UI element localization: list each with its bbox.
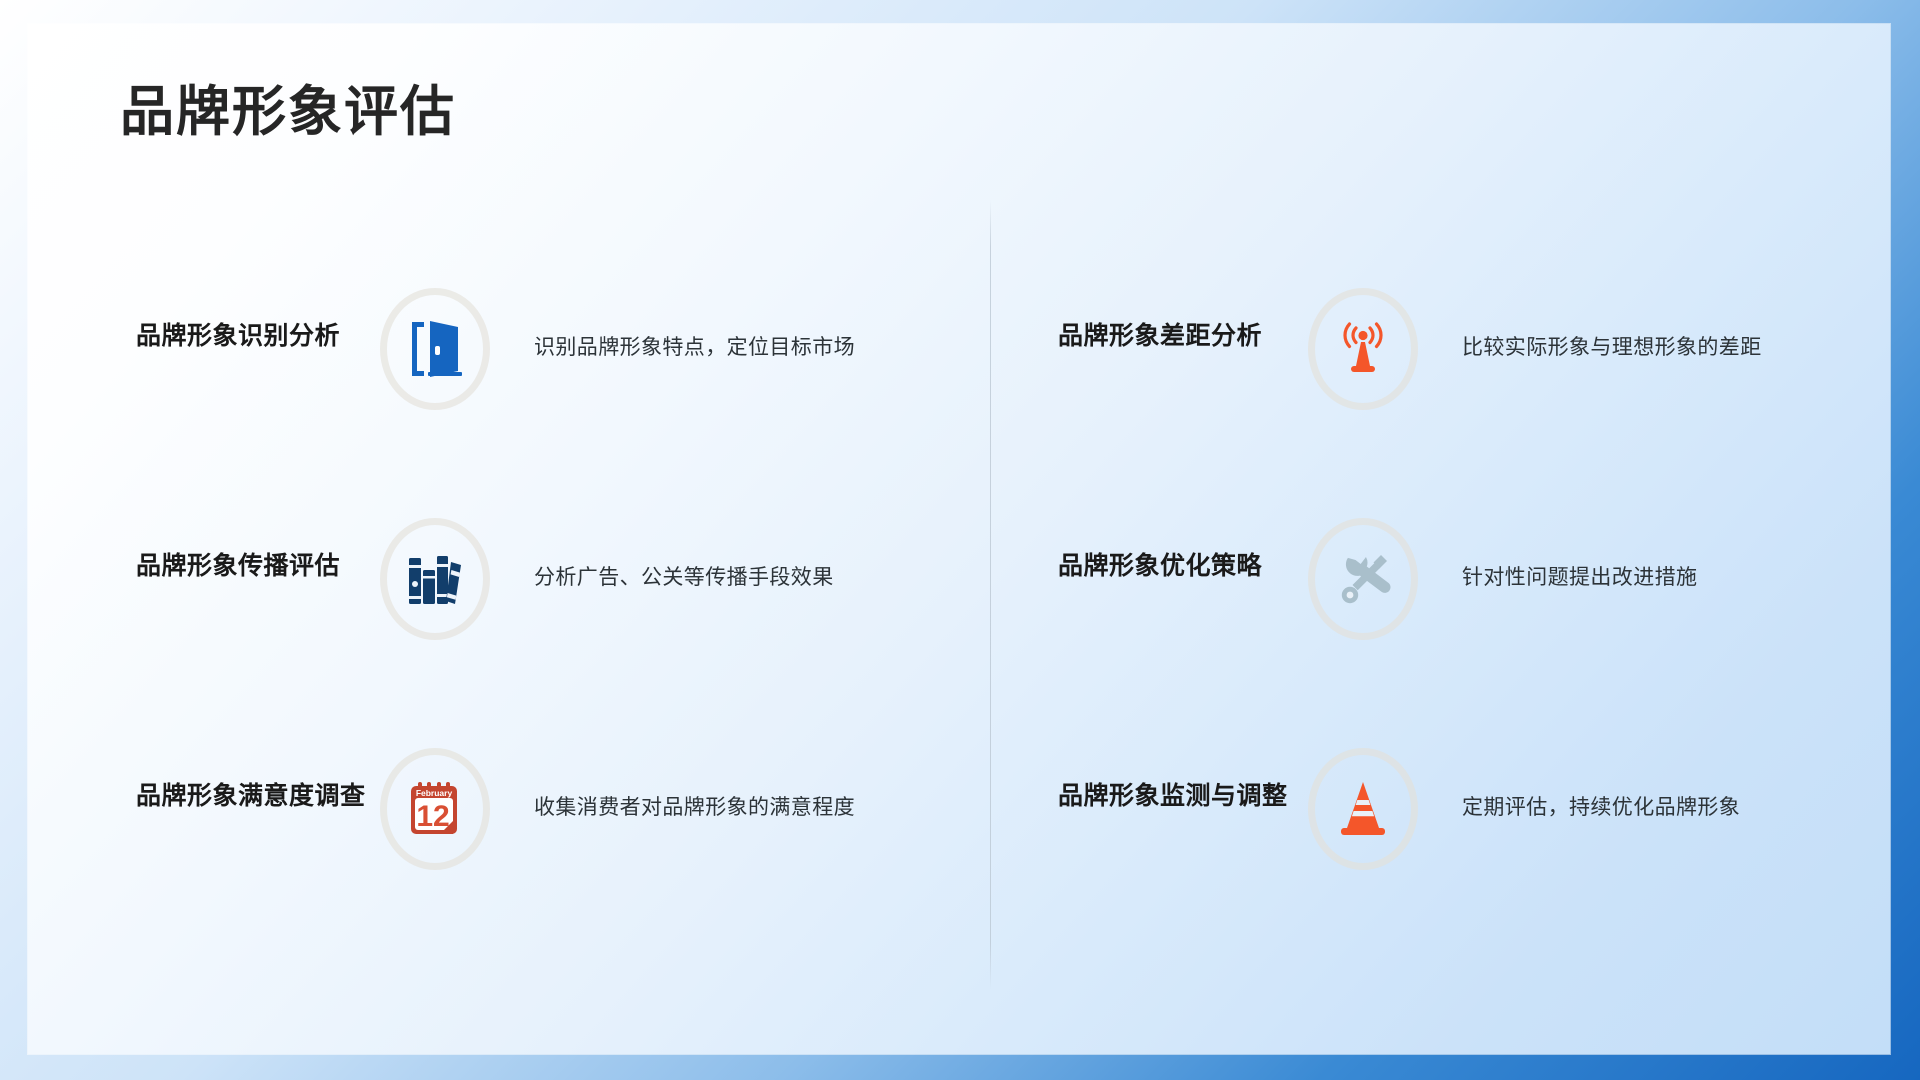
broadcast-tower-icon (1334, 320, 1392, 378)
item-title: 品牌形象满意度调查 (136, 780, 368, 812)
page-title: 品牌形象评估 (120, 83, 456, 142)
item-title: 品牌形象监测与调整 (1058, 780, 1298, 812)
item-description: 识别品牌形象特点，定位目标市场 (534, 332, 855, 364)
item-description: 定期评估，持续优化品牌形象 (1462, 792, 1740, 824)
item-title: 品牌形象差距分析 (1058, 320, 1298, 352)
item-description: 针对性问题提出改进措施 (1462, 562, 1697, 594)
right-column: 品牌形象差距分析 (1058, 274, 1878, 964)
item-description: 收集消费者对品牌形象的满意程度 (534, 792, 855, 824)
list-item[interactable]: 品牌形象满意度调查 (136, 734, 956, 964)
icon-ring (1308, 288, 1418, 410)
calendar-month-label: February (416, 788, 453, 798)
left-column: 品牌形象识别分析 识别品牌形象特点，定位目标市场 (136, 274, 956, 964)
icon-ring: February 12 (380, 748, 490, 870)
slide-card: 品牌形象评估 品牌形象识别分析 (28, 24, 1890, 1054)
list-item[interactable]: 品牌形象优化策略 针对性问题提出改进措施 (1058, 504, 1878, 734)
traffic-cone-icon (1335, 780, 1391, 838)
list-item[interactable]: 品牌形象传播评估 (136, 504, 956, 734)
slide-canvas: 品牌形象评估 品牌形象识别分析 (0, 0, 1920, 1080)
icon-ring (1308, 518, 1418, 640)
icon-ring (1308, 748, 1418, 870)
door-icon (408, 320, 462, 378)
column-divider (990, 200, 991, 990)
list-item[interactable]: 品牌形象差距分析 (1058, 274, 1878, 504)
item-title: 品牌形象传播评估 (136, 550, 368, 582)
item-title: 品牌形象优化策略 (1058, 550, 1298, 582)
list-item[interactable]: 品牌形象监测与调整 (1058, 734, 1878, 964)
calendar-icon: February 12 (408, 781, 462, 837)
books-icon (407, 552, 463, 606)
item-description: 分析广告、公关等传播手段效果 (534, 562, 834, 594)
item-description: 比较实际形象与理想形象的差距 (1462, 332, 1762, 364)
item-title: 品牌形象识别分析 (136, 320, 368, 352)
icon-ring (380, 288, 490, 410)
tools-wrench-screwdriver-icon (1334, 550, 1392, 608)
icon-ring (380, 518, 490, 640)
calendar-day-label: 12 (416, 800, 449, 833)
list-item[interactable]: 品牌形象识别分析 识别品牌形象特点，定位目标市场 (136, 274, 956, 504)
